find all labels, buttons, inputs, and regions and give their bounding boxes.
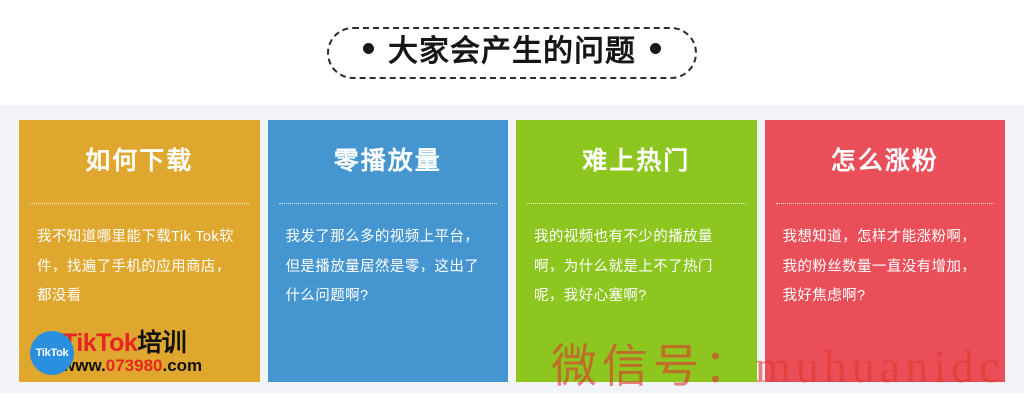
card-header: 零播放量 xyxy=(268,120,509,203)
card-zero-views: 零播放量 我发了那么多的视频上平台，但是播放量居然是零，这出了什么问题啊? xyxy=(268,120,509,382)
card-hard-to-trend: 难上热门 我的视频也有不少的播放量啊，为什么就是上不了热门呢，我好心塞啊? xyxy=(516,120,757,382)
page-title-area: 大家会产生的问题 xyxy=(0,0,1024,105)
card-header: 难上热门 xyxy=(516,120,757,203)
page-title: 大家会产生的问题 xyxy=(388,37,636,67)
title-dashed-box: 大家会产生的问题 xyxy=(327,27,697,79)
card-title: 怎么涨粉 xyxy=(831,149,939,174)
card-body: 我发了那么多的视频上平台，但是播放量居然是零，这出了什么问题啊? xyxy=(268,204,509,382)
card-body-text: 我的视频也有不少的播放量啊，为什么就是上不了热门呢，我好心塞啊? xyxy=(534,223,739,312)
card-how-to-download: 如何下载 我不知道哪里能下载Tik Tok软件，找遍了手机的应用商店，都没看 T… xyxy=(19,120,260,382)
cards-panel: 如何下载 我不知道哪里能下载Tik Tok软件，找遍了手机的应用商店，都没看 T… xyxy=(0,105,1024,393)
card-title: 如何下载 xyxy=(85,149,193,174)
bullet-dot-left-icon xyxy=(363,43,374,54)
card-gain-followers: 怎么涨粉 我想知道，怎样才能涨粉啊，我的粉丝数量一直没有增加，我好焦虑啊? xyxy=(765,120,1006,382)
card-header: 如何下载 xyxy=(19,120,260,203)
card-body: 我想知道，怎样才能涨粉啊，我的粉丝数量一直没有增加，我好焦虑啊? xyxy=(765,204,1006,382)
card-title: 零播放量 xyxy=(334,149,442,174)
page-root: 大家会产生的问题 如何下载 我不知道哪里能下载Tik Tok软件，找遍了手机的应… xyxy=(0,0,1024,401)
card-body-text: 我发了那么多的视频上平台，但是播放量居然是零，这出了什么问题啊? xyxy=(286,223,491,312)
card-header: 怎么涨粉 xyxy=(765,120,1006,203)
card-body-text: 我不知道哪里能下载Tik Tok软件，找遍了手机的应用商店，都没看 xyxy=(37,223,242,312)
card-title: 难上热门 xyxy=(582,149,690,174)
card-body: 我不知道哪里能下载Tik Tok软件，找遍了手机的应用商店，都没看 xyxy=(19,204,260,382)
bullet-dot-right-icon xyxy=(650,43,661,54)
card-body-text: 我想知道，怎样才能涨粉啊，我的粉丝数量一直没有增加，我好焦虑啊? xyxy=(783,223,988,312)
card-body: 我的视频也有不少的播放量啊，为什么就是上不了热门呢，我好心塞啊? xyxy=(516,204,757,382)
